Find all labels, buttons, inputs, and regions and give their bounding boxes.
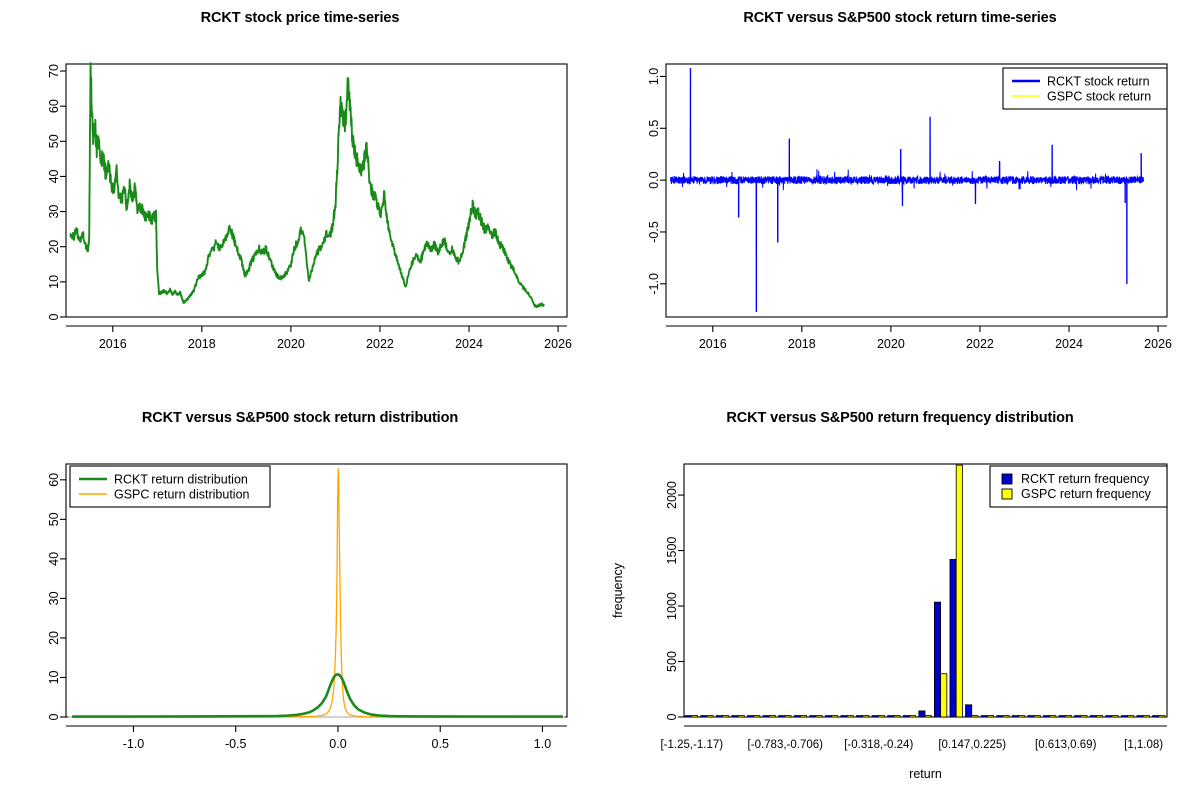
x-tick-label: -0.5 (225, 737, 247, 751)
density-curve (72, 674, 563, 716)
gspc-bar (1096, 716, 1102, 717)
x-tick-label: 0.0 (329, 737, 346, 751)
y-tick-label: 0 (47, 713, 61, 720)
y-tick-label: 20 (47, 240, 61, 254)
x-tick-label: 2026 (544, 337, 572, 351)
gspc-bar (707, 716, 713, 717)
gspc-bar (785, 716, 791, 717)
rckt-bar (841, 716, 847, 717)
x-tick-label: 2024 (1055, 337, 1083, 351)
gspc-bar (832, 716, 838, 717)
gspc-bar (1019, 716, 1025, 717)
legend-label-1: GSPC return frequency (1021, 487, 1152, 501)
x-tick-label: [-0.783,-0.706) (748, 739, 824, 751)
rckt-bar (779, 716, 785, 717)
gspc-bar (738, 716, 744, 717)
x-tick-label: 2020 (277, 337, 305, 351)
rckt-bar (763, 716, 769, 717)
gspc-bar (878, 716, 884, 717)
y-tick-label: 500 (665, 651, 679, 672)
panel-rckt-gspc-return-distribution: RCKT versus S&P500 stock return distribu… (0, 400, 600, 800)
y-tick-label: 70 (47, 64, 61, 78)
rckt-bar (966, 705, 972, 717)
y-tick-label: 40 (47, 552, 61, 566)
rckt-bar (732, 716, 738, 717)
y-tick-label: 40 (47, 169, 61, 183)
rckt-bar (1106, 716, 1112, 717)
y-tick-label: 1.0 (647, 68, 661, 85)
legend-return-frequency: RCKT return frequencyGSPC return frequen… (990, 466, 1167, 507)
rckt-bar (1012, 716, 1018, 717)
gspc-bar (691, 716, 697, 717)
rckt-bar (1137, 716, 1143, 717)
rckt-bar (1028, 716, 1034, 717)
x-tick-label: 2020 (877, 337, 905, 351)
gspc-bar (863, 716, 869, 717)
rckt-bar (685, 716, 691, 717)
rckt-bar (825, 716, 831, 717)
y-tick-label: 10 (47, 670, 61, 684)
gspc-bar (941, 674, 947, 717)
y-tick-label: 60 (47, 473, 61, 487)
plot-area-returns: -1.0-0.50.00.51.020162018202020222024202… (600, 0, 1200, 400)
y-tick-label: 2000 (665, 481, 679, 509)
legend-swatch-0 (1002, 474, 1012, 484)
legend-return-distribution: RCKT return distributionGSPC return dist… (70, 466, 270, 507)
legend-label-0: RCKT stock return (1047, 75, 1150, 89)
x-tick-label: 2018 (788, 337, 816, 351)
rckt-bar (1153, 716, 1159, 717)
plot-area-price: 010203040506070201620182020202220242026 (0, 0, 600, 400)
gspc-bar (800, 716, 806, 717)
gspc-bar (894, 716, 900, 717)
rckt-bar (997, 716, 1003, 717)
rckt-bar (950, 559, 956, 717)
gspc-bar (1081, 716, 1087, 717)
figure-canvas: RCKT stock price time-series 01020304050… (0, 0, 1200, 800)
gspc-bar (754, 716, 760, 717)
x-tick-label: -1.0 (123, 737, 145, 751)
legend-label-0: RCKT return frequency (1021, 472, 1150, 486)
gspc-bar (1112, 716, 1118, 717)
gspc-bar (1065, 716, 1071, 717)
y-tick-label: 30 (47, 205, 61, 219)
gspc-bar (925, 716, 931, 717)
x-tick-label: 2024 (455, 337, 483, 351)
y-tick-label: -0.5 (647, 221, 661, 243)
y-tick-label: 0 (665, 713, 679, 720)
legend-label-1: GSPC stock return (1047, 90, 1151, 104)
rckt-bar (919, 711, 925, 717)
gspc-bar (972, 716, 978, 717)
y-axis-label: frequency (611, 562, 625, 618)
x-tick-label: [-1.25,-1.17) (660, 739, 723, 751)
gspc-bar (1143, 716, 1149, 717)
legend-label-0: RCKT return distribution (114, 473, 248, 487)
rckt-bar (888, 716, 894, 717)
gspc-bar (956, 465, 962, 717)
gspc-bar (1003, 716, 1009, 717)
y-tick-label: 1000 (665, 592, 679, 620)
rckt-bar (716, 716, 722, 717)
rckt-bar (981, 716, 987, 717)
panel-rckt-gspc-return-timeseries: RCKT versus S&P500 stock return time-ser… (600, 0, 1200, 400)
y-tick-label: 0 (47, 313, 61, 320)
legend-swatch-1 (1002, 489, 1012, 499)
gspc-bar (1128, 716, 1134, 717)
x-tick-label: 2022 (966, 337, 994, 351)
y-tick-label: 60 (47, 99, 61, 113)
x-tick-label: 1.0 (534, 737, 551, 751)
x-tick-label: 2018 (188, 337, 216, 351)
gspc-bar (769, 716, 775, 717)
y-tick-label: 1500 (665, 537, 679, 565)
y-tick-label: 30 (47, 591, 61, 605)
x-tick-label: 0.5 (432, 737, 449, 751)
y-tick-label: 50 (47, 134, 61, 148)
y-tick-label: 0.0 (647, 171, 661, 188)
plot-area-density: 0102030405060-1.0-0.50.00.51.0 RCKT retu… (0, 400, 600, 800)
legend-return-timeseries: RCKT stock returnGSPC stock return (1003, 68, 1167, 109)
gspc-bar (987, 716, 993, 717)
x-tick-label: 2026 (1144, 337, 1172, 351)
y-tick-label: 50 (47, 512, 61, 526)
x-tick-label: 2022 (366, 337, 394, 351)
gspc-bar (909, 716, 915, 717)
panel-rckt-price-timeseries: RCKT stock price time-series 01020304050… (0, 0, 600, 400)
gspc-bar (816, 716, 822, 717)
panel-rckt-gspc-return-frequency: RCKT versus S&P500 return frequency dist… (600, 400, 1200, 800)
y-tick-label: -1.0 (647, 273, 661, 295)
rckt-bar (701, 716, 707, 717)
rckt-bar (903, 716, 909, 717)
x-tick-label: [0.147,0.225) (938, 739, 1006, 751)
rckt-bar (1121, 716, 1127, 717)
x-tick-label: [0.613,0.69) (1035, 739, 1097, 751)
legend-label-1: GSPC return distribution (114, 488, 250, 502)
x-tick-label: 2016 (699, 337, 727, 351)
x-tick-label: [-0.318,-0.24) (844, 739, 913, 751)
price-line (70, 63, 543, 307)
rckt-bar (1043, 716, 1049, 717)
rckt-bar (747, 716, 753, 717)
x-tick-label: [1,1.08) (1124, 739, 1163, 751)
x-tick-label: 2016 (99, 337, 127, 351)
gspc-bar (1034, 716, 1040, 717)
rckt-bar (1090, 716, 1096, 717)
y-tick-label: 10 (47, 275, 61, 289)
rckt-bar (810, 716, 816, 717)
rckt-bar (934, 602, 940, 717)
gspc-bar (1050, 716, 1056, 717)
gspc-bar (1159, 716, 1165, 717)
x-axis-label: return (909, 767, 942, 781)
rckt-bar (856, 716, 862, 717)
plot-box (66, 64, 567, 317)
rckt-bar (872, 716, 878, 717)
y-tick-label: 0.5 (647, 120, 661, 137)
rckt-bar (1075, 716, 1081, 717)
rckt-bar (794, 716, 800, 717)
plot-area-histogram: 0500100015002000frequency[-1.25,-1.17)[-… (600, 400, 1200, 800)
y-tick-label: 20 (47, 631, 61, 645)
gspc-bar (722, 716, 728, 717)
gspc-bar (847, 716, 853, 717)
rckt-bar (1059, 716, 1065, 717)
